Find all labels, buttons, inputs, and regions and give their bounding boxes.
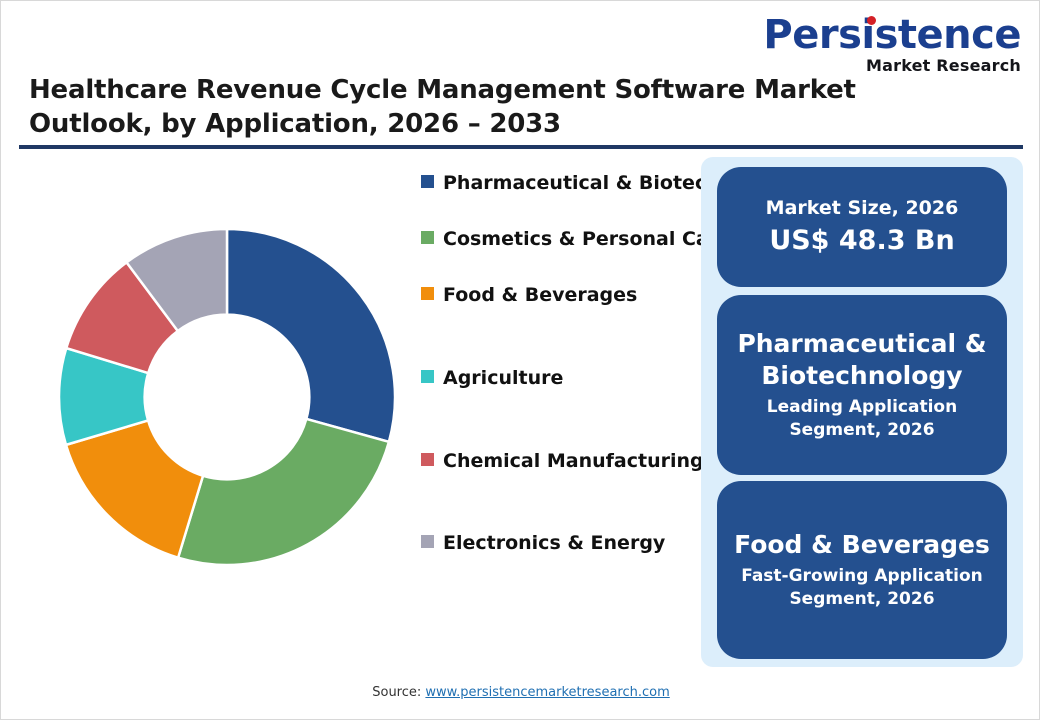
leading-segment-sub-line1: Leading Application xyxy=(767,396,957,419)
stats-panel: Market Size, 2026 US$ 48.3 Bn Pharmaceut… xyxy=(701,157,1023,667)
legend-item-pharmaceutical-biotechnology[interactable]: Pharmaceutical & Biotechnology xyxy=(421,169,696,198)
chart-legend: Pharmaceutical & Biotechnology Cosmetics… xyxy=(421,169,696,558)
logo-tagline: Market Research xyxy=(763,58,1021,74)
legend-item-cosmetics-personal-care[interactable]: Cosmetics & Personal Care xyxy=(421,225,696,254)
legend-item-agriculture[interactable]: Agriculture xyxy=(421,364,696,393)
company-logo: Persistence Market Research xyxy=(763,15,1021,74)
donut-slice[interactable] xyxy=(66,420,203,557)
market-size-value: US$ 48.3 Bn xyxy=(769,223,954,258)
legend-label: Agriculture xyxy=(443,364,563,393)
market-size-label: Market Size, 2026 xyxy=(766,196,959,222)
source-prefix: Source: xyxy=(372,685,425,700)
legend-swatch-icon xyxy=(421,287,434,300)
donut-slice[interactable] xyxy=(178,419,389,565)
title-divider xyxy=(19,145,1023,149)
donut-chart xyxy=(41,211,421,591)
market-size-card: Market Size, 2026 US$ 48.3 Bn xyxy=(717,167,1007,287)
leading-segment-sub-line2: Segment, 2026 xyxy=(789,419,934,442)
legend-swatch-icon xyxy=(421,231,434,244)
source-link[interactable]: www.persistencemarketresearch.com xyxy=(425,685,669,700)
legend-label: Cosmetics & Personal Care xyxy=(443,225,731,254)
logo-wordmark-text: Persistence xyxy=(763,12,1021,58)
leading-segment-card: Pharmaceutical & Biotechnology Leading A… xyxy=(717,295,1007,475)
page-title: Healthcare Revenue Cycle Management Soft… xyxy=(29,73,959,142)
legend-item-food-beverages[interactable]: Food & Beverages xyxy=(421,281,696,310)
logo-wordmark: Persistence xyxy=(763,15,1021,55)
donut-slice-group xyxy=(59,229,395,565)
legend-label: Electronics & Energy xyxy=(443,529,665,558)
legend-swatch-icon xyxy=(421,175,434,188)
legend-item-chemical-manufacturing[interactable]: Chemical Manufacturing xyxy=(421,447,696,476)
leading-segment-name: Pharmaceutical & Biotechnology xyxy=(717,328,1007,392)
legend-swatch-icon xyxy=(421,370,434,383)
fast-growing-segment-sub-line1: Fast-Growing Application xyxy=(741,565,983,588)
infographic-canvas: Persistence Market Research Healthcare R… xyxy=(0,0,1040,720)
donut-chart-svg xyxy=(41,211,421,591)
legend-label: Food & Beverages xyxy=(443,281,637,310)
source-footer: Source: www.persistencemarketresearch.co… xyxy=(1,685,1040,700)
fast-growing-segment-name: Food & Beverages xyxy=(726,529,998,561)
donut-slice[interactable] xyxy=(227,229,395,442)
legend-swatch-icon xyxy=(421,535,434,548)
legend-item-electronics-energy[interactable]: Electronics & Energy xyxy=(421,529,696,558)
legend-label: Chemical Manufacturing xyxy=(443,447,704,476)
fast-growing-segment-card: Food & Beverages Fast-Growing Applicatio… xyxy=(717,481,1007,659)
fast-growing-segment-sub-line2: Segment, 2026 xyxy=(789,588,934,611)
legend-swatch-icon xyxy=(421,453,434,466)
